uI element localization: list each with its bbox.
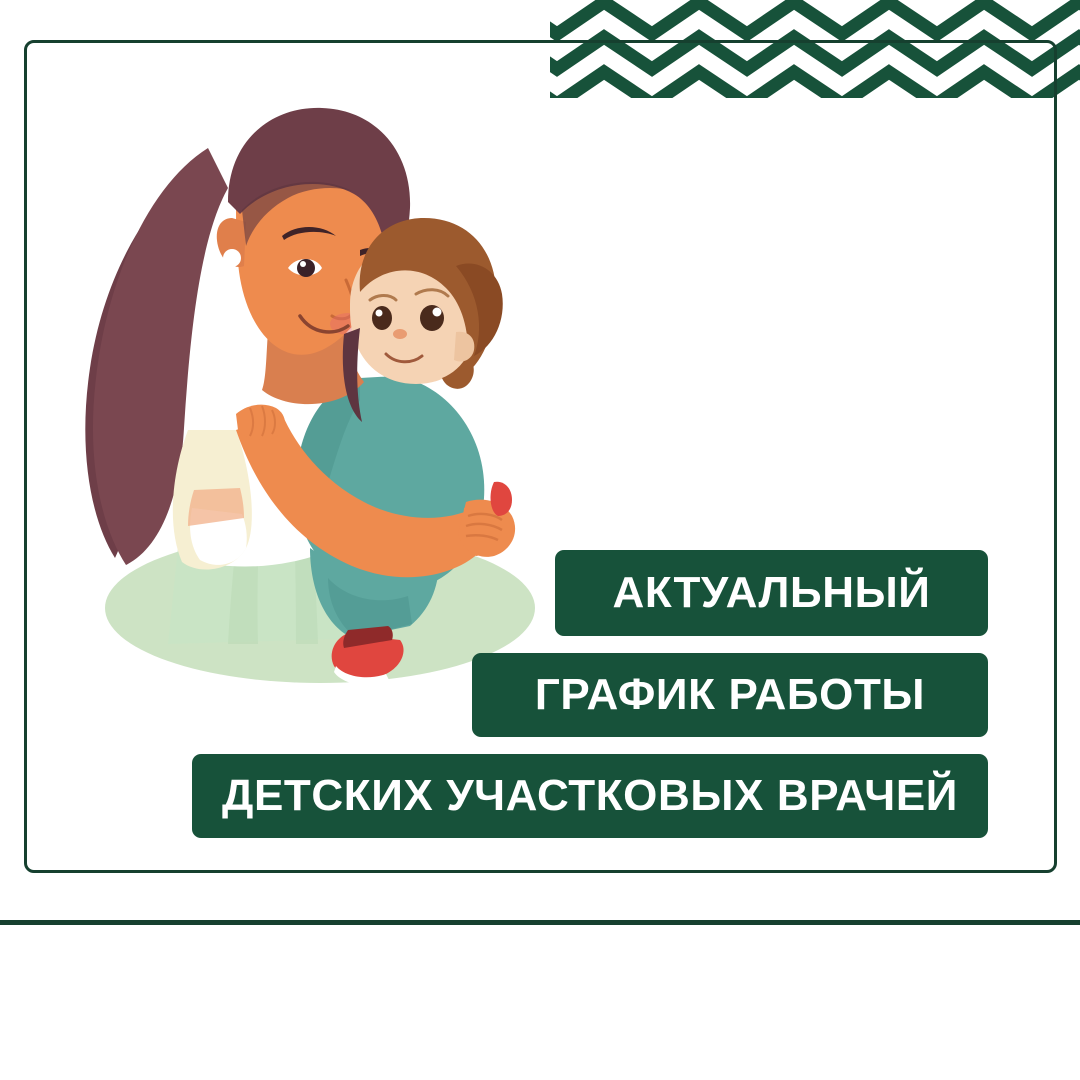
headline-line-1: АКТУАЛЬНЫЙ [555,550,988,636]
bottom-divider-rule [0,920,1080,925]
headline-line-3: ДЕТСКИХ УЧАСТКОВЫХ ВРАЧЕЙ [192,754,988,838]
child-nose [393,329,407,339]
child-eye-right [420,305,444,331]
zigzag-chevron-pattern [550,0,1080,98]
child-eye-left [372,306,392,330]
earring [223,249,241,267]
poster-canvas: АКТУАЛЬНЫЙ ГРАФИК РАБОТЫ ДЕТСКИХ УЧАСТКО… [0,0,1080,1080]
child-hand [236,405,285,440]
headline-line-2: ГРАФИК РАБОТЫ [472,653,988,737]
headline-stack: АКТУАЛЬНЫЙ ГРАФИК РАБОТЫ ДЕТСКИХ УЧАСТКО… [0,550,1080,838]
